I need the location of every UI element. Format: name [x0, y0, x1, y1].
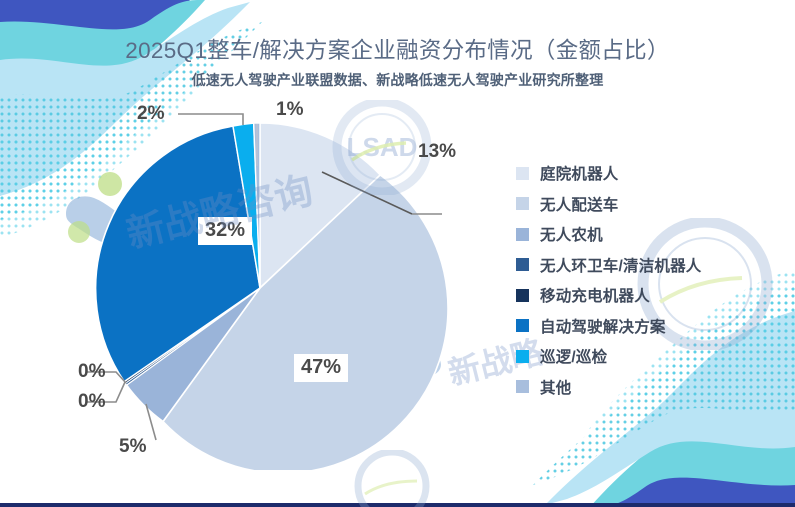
legend-swatch-icon: [516, 380, 529, 393]
legend-item-agriculture-machine[interactable]: 无人农机: [516, 219, 702, 250]
legend-item-autonomous-solution[interactable]: 自动驾驶解决方案: [516, 311, 702, 342]
legend-swatch-icon: [516, 319, 529, 332]
legend-item-other[interactable]: 其他: [516, 372, 702, 403]
legend-swatch-icon: [516, 258, 529, 271]
legend-item-patrol-inspection[interactable]: 巡逻/巡检: [516, 341, 702, 372]
legend-swatch-icon: [516, 289, 529, 302]
pie-label-1: 1%: [276, 100, 303, 121]
legend-label: 移动充电机器人: [540, 284, 650, 306]
chart-subtitle: 低速无人驾驶产业联盟数据、新战略低速无人驾驶产业研究所整理: [0, 70, 795, 90]
pie-slices: [96, 123, 448, 470]
pie-label-32: 32%: [198, 217, 252, 245]
legend-label: 巡逻/巡检: [540, 345, 607, 367]
pie-label-13: 13%: [418, 142, 456, 163]
legend-item-sanitation-robot[interactable]: 无人环卫车/清洁机器人: [516, 250, 702, 281]
legend-item-delivery-vehicle[interactable]: 无人配送车: [516, 189, 702, 220]
chart-title: 2025Q1整车/解决方案企业融资分布情况（金额占比）: [0, 38, 795, 65]
legend-label: 自动驾驶解决方案: [540, 315, 666, 337]
pie-label-0-upper: 0%: [78, 362, 105, 383]
legend-label: 其他: [540, 376, 571, 398]
legend-label: 庭院机器人: [540, 162, 619, 184]
legend-item-mobile-charging-robot[interactable]: 移动充电机器人: [516, 280, 702, 311]
legend-label: 无人环卫车/清洁机器人: [540, 254, 702, 276]
legend-swatch-icon: [516, 197, 529, 210]
legend-swatch-icon: [516, 167, 529, 180]
pie-label-2: 2%: [137, 104, 164, 125]
chart-canvas: 2025Q1整车/解决方案企业融资分布情况（金额占比） 低速无人驾驶产业联盟数据…: [0, 0, 795, 507]
pie-chart: 32% 47%: [60, 110, 460, 470]
pie-label-5: 5%: [119, 437, 146, 458]
legend: 庭院机器人 无人配送车 无人农机 无人环卫车/清洁机器人 移动充电机器人 自动驾…: [516, 158, 702, 402]
legend-item-courtyard-robot[interactable]: 庭院机器人: [516, 158, 702, 189]
pie-label-47: 47%: [294, 354, 348, 382]
pie-label-0-lower: 0%: [78, 392, 105, 413]
title-block: 2025Q1整车/解决方案企业融资分布情况（金额占比） 低速无人驾驶产业联盟数据…: [0, 38, 795, 90]
legend-label: 无人配送车: [540, 193, 619, 215]
legend-swatch-icon: [516, 350, 529, 363]
leader-line-2: [178, 114, 243, 125]
legend-label: 无人农机: [540, 223, 603, 245]
legend-swatch-icon: [516, 228, 529, 241]
pie-svg: [60, 110, 460, 470]
